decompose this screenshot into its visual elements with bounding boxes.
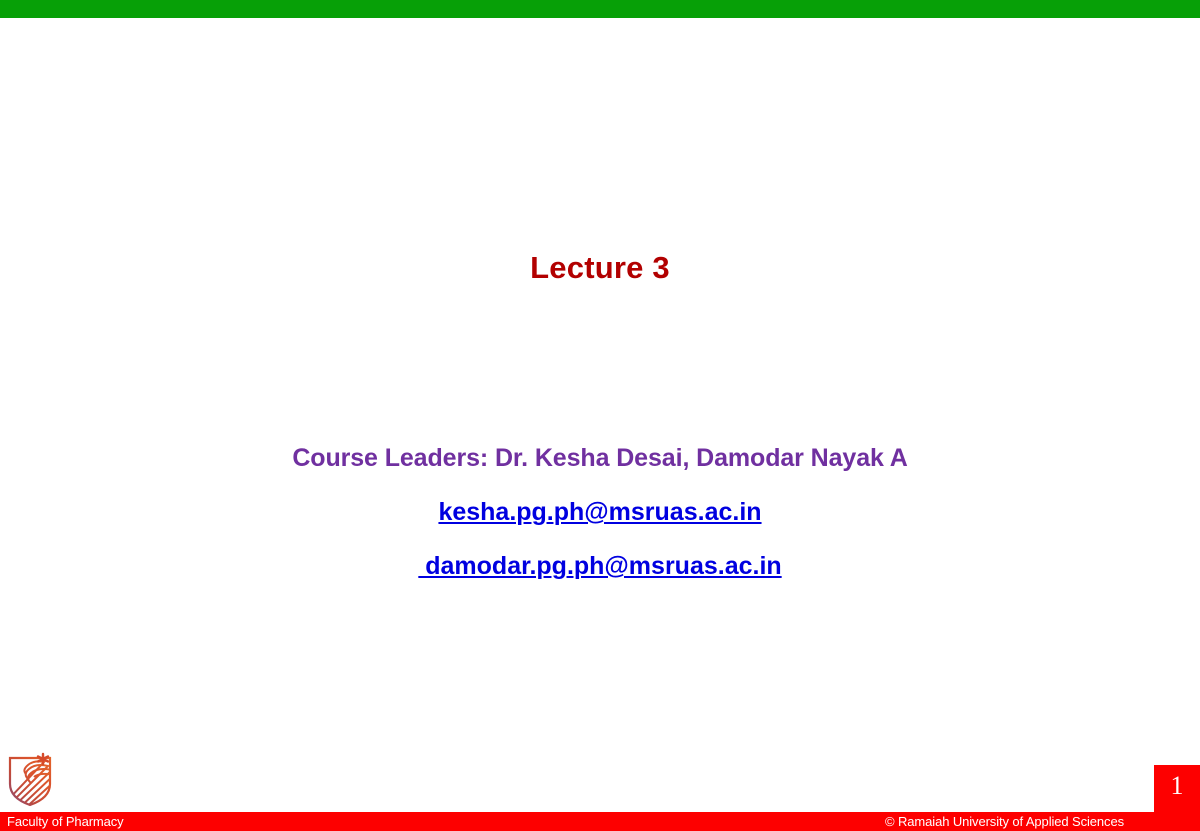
page-title: Lecture 3 — [0, 250, 1200, 286]
email-link-kesha[interactable]: kesha.pg.ph@msruas.ac.in — [438, 498, 761, 526]
ramaiah-shield-logo-icon — [4, 750, 60, 808]
slide-number-badge: 1 — [1154, 765, 1200, 813]
slide-content-area: Lecture 3 Course Leaders: Dr. Kesha Desa… — [0, 18, 1200, 812]
top-green-band — [0, 0, 1200, 18]
footer-faculty-label: Faculty of Pharmacy — [7, 814, 124, 829]
course-leaders-text: Course Leaders: Dr. Kesha Desai, Damodar… — [0, 444, 1200, 473]
footer-copyright-label: © Ramaiah University of Applied Sciences — [885, 814, 1124, 829]
footer-bar: Faculty of Pharmacy © Ramaiah University… — [0, 812, 1200, 831]
email-line-2: damodar.pg.ph@msruas.ac.in — [0, 552, 1200, 581]
email-link-damodar[interactable]: damodar.pg.ph@msruas.ac.in — [418, 552, 781, 580]
slide-number-text: 1 — [1154, 771, 1200, 801]
email-line-1: kesha.pg.ph@msruas.ac.in — [0, 498, 1200, 527]
